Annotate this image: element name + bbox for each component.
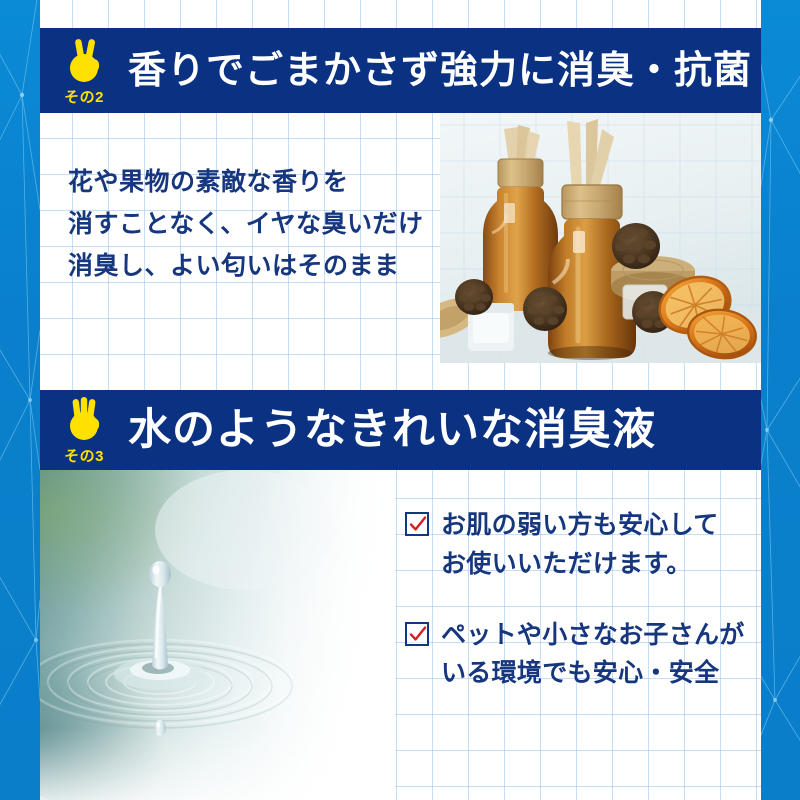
- page-root: その2 香りでごまかさず強力に消臭・抗菌 花や果物の素敵な香りを 消すことなく、…: [0, 0, 800, 800]
- red-check-icon: [405, 622, 429, 646]
- section-2-header: その2 香りでごまかさず強力に消臭・抗菌: [40, 28, 761, 113]
- checklist-item-text: お肌の弱い方も安心して お使いいただけます。: [441, 506, 719, 584]
- section-2-badge-label: その2: [64, 86, 104, 107]
- pine-cone: [523, 287, 567, 331]
- checklist-item-text: ペットや小さなお子さんが いる環境でも安心・安全: [441, 616, 745, 694]
- right-band-network-lines: [761, 0, 800, 800]
- section-3-title: 水のようなきれいな消臭液: [128, 409, 656, 452]
- left-band-network-lines: [0, 0, 40, 800]
- section-2-title: 香りでごまかさず強力に消臭・抗菌: [128, 52, 752, 90]
- peace-hand-icon: [61, 37, 107, 85]
- pine-cone: [455, 279, 493, 315]
- reed-diffuser-illustration: [440, 113, 761, 363]
- section-2-badge: その2: [40, 35, 128, 107]
- section-2-body: 花や果物の素敵な香りを 消すことなく、イヤな臭いだけ 消臭し、よい匂いはそのまま: [40, 113, 761, 390]
- pine-cone: [612, 223, 660, 269]
- section-3-badge: その3: [40, 394, 128, 466]
- section-3-badge-label: その3: [64, 445, 104, 466]
- red-check-icon: [405, 512, 429, 536]
- left-decorative-band: [0, 0, 40, 800]
- three-finger-hand-icon: [61, 396, 107, 444]
- checklist-item: ペットや小さなお子さんが いる環境でも安心・安全: [405, 616, 757, 694]
- reed-diffuser-photo: [440, 113, 761, 363]
- water-droplet-ripple-photo: [40, 470, 395, 800]
- checklist-item: お肌の弱い方も安心して お使いいただけます。: [405, 506, 757, 584]
- content-column: その2 香りでごまかさず強力に消臭・抗菌 花や果物の素敵な香りを 消すことなく、…: [40, 0, 761, 800]
- safety-checklist: お肌の弱い方も安心して お使いいただけます。 ペットや小さなお子さんが いる環境…: [405, 506, 757, 725]
- section-2-description: 花や果物の素敵な香りを 消すことなく、イヤな臭いだけ 消臭し、よい匂いはそのまま: [68, 161, 424, 287]
- section-3-body: お肌の弱い方も安心して お使いいただけます。 ペットや小さなお子さんが いる環境…: [40, 470, 761, 800]
- section-3-header: その3 水のようなきれいな消臭液: [40, 390, 761, 470]
- water-droplet-illustration: [40, 470, 395, 800]
- right-decorative-band: [761, 0, 800, 800]
